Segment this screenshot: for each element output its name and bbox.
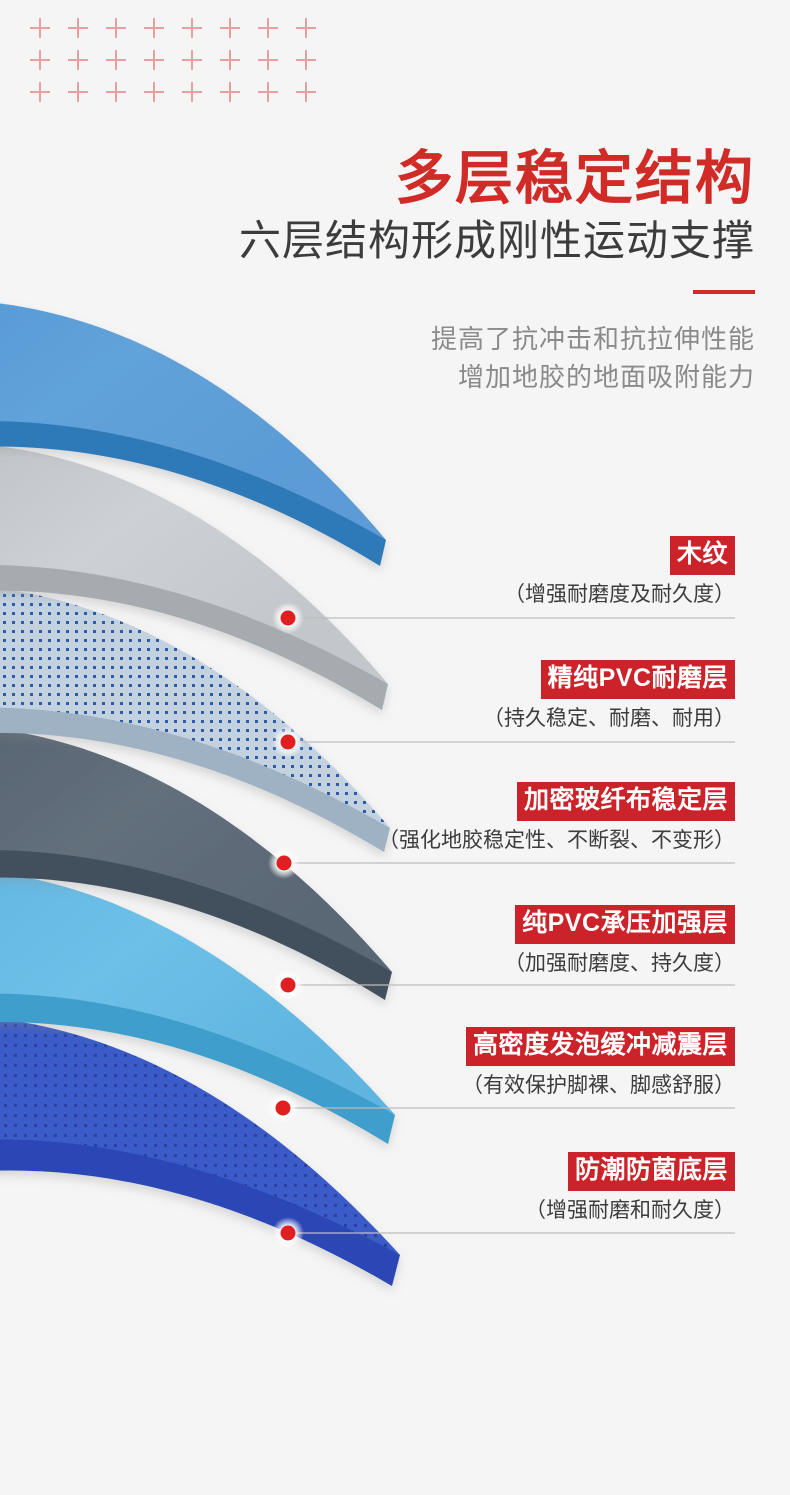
plus-icon	[68, 18, 88, 38]
plus-icon	[144, 18, 164, 38]
callout-subtitle-6: （增强耐磨和耐久度）	[275, 1196, 735, 1226]
plus-icon	[106, 82, 126, 102]
callout-subtitle-3: （强化地胶稳定性、不断裂、不变形）	[275, 826, 735, 856]
plus-icon	[30, 50, 50, 70]
description-line-1: 提高了抗冲击和抗拉伸性能	[115, 320, 755, 358]
callout-layer-4: 纯PVC承压加强层 （加强耐磨度、持久度）	[275, 905, 735, 979]
heading-block: 多层稳定结构 六层结构形成刚性运动支撑 提高了抗冲击和抗拉伸性能 增加地胶的地面…	[115, 148, 755, 396]
plus-icon	[220, 82, 240, 102]
callout-layer-5: 高密度发泡缓冲减震层 （有效保护脚裸、脚感舒服）	[275, 1027, 735, 1101]
page-title: 多层稳定结构	[115, 148, 755, 210]
plus-icon	[220, 50, 240, 70]
callout-subtitle-4: （加强耐磨度、持久度）	[275, 949, 735, 979]
callout-layer-3: 加密玻纤布稳定层 （强化地胶稳定性、不断裂、不变形）	[275, 782, 735, 856]
plus-icon	[258, 18, 278, 38]
plus-icon	[182, 18, 202, 38]
plus-icon	[30, 18, 50, 38]
plus-icon	[68, 50, 88, 70]
plus-icon	[182, 82, 202, 102]
callout-title-2: 精纯PVC耐磨层	[541, 660, 735, 699]
page-subtitle: 六层结构形成刚性运动支撑	[115, 214, 755, 268]
plus-icon	[182, 50, 202, 70]
plus-icon	[296, 50, 316, 70]
callout-layer-2: 精纯PVC耐磨层 （持久稳定、耐磨、耐用）	[275, 660, 735, 734]
plus-icon	[106, 50, 126, 70]
callout-title-3: 加密玻纤布稳定层	[517, 782, 735, 821]
plus-icon	[144, 50, 164, 70]
callout-title-1: 木纹	[670, 536, 735, 575]
callout-subtitle-2: （持久稳定、耐磨、耐用）	[275, 704, 735, 734]
callout-title-5: 高密度发泡缓冲减震层	[466, 1027, 735, 1066]
plus-icon	[68, 82, 88, 102]
callout-title-4: 纯PVC承压加强层	[515, 905, 735, 944]
plus-icon	[296, 82, 316, 102]
plus-icon	[106, 18, 126, 38]
callout-title-6: 防潮防菌底层	[568, 1152, 735, 1191]
callout-subtitle-1: （增强耐磨度及耐久度）	[275, 580, 735, 610]
plus-icon	[30, 82, 50, 102]
callout-layer-1: 木纹 （增强耐磨度及耐久度）	[275, 536, 735, 610]
infographic-canvas: 多层稳定结构 六层结构形成刚性运动支撑 提高了抗冲击和抗拉伸性能 增加地胶的地面…	[0, 0, 790, 1495]
plus-icon	[258, 50, 278, 70]
callout-layer-6: 防潮防菌底层 （增强耐磨和耐久度）	[275, 1152, 735, 1226]
decorative-plus-grid	[30, 18, 320, 110]
plus-icon	[220, 18, 240, 38]
plus-icon	[144, 82, 164, 102]
title-underline-rule	[693, 290, 755, 294]
plus-icon	[296, 18, 316, 38]
plus-icon	[258, 82, 278, 102]
callout-subtitle-5: （有效保护脚裸、脚感舒服）	[275, 1071, 735, 1101]
